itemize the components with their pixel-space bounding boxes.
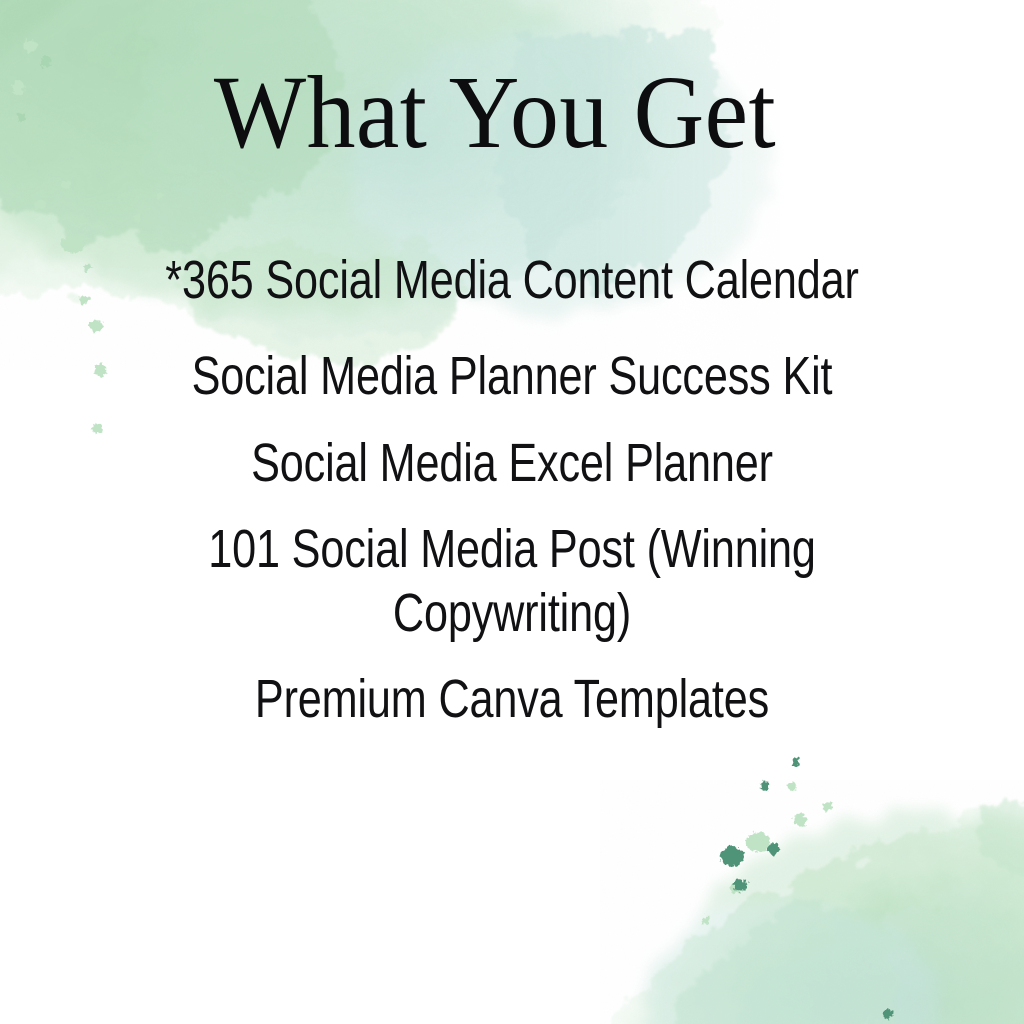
list-item: Social Media Planner Success Kit [102, 344, 921, 408]
offer-list: *365 Social Media Content Calendar Socia… [0, 248, 1024, 732]
promo-graphic-canvas: What You Get *365 Social Media Content C… [0, 0, 1024, 1024]
list-item: Premium Canva Templates [102, 667, 921, 731]
list-item: *365 Social Media Content Calendar [102, 248, 921, 312]
list-item: Social Media Excel Planner [102, 431, 921, 495]
text-content: What You Get *365 Social Media Content C… [0, 0, 1024, 1024]
page-title: What You Get [30, 57, 961, 169]
list-item: 101 Social Media Post (Winning Copywriti… [102, 517, 921, 646]
